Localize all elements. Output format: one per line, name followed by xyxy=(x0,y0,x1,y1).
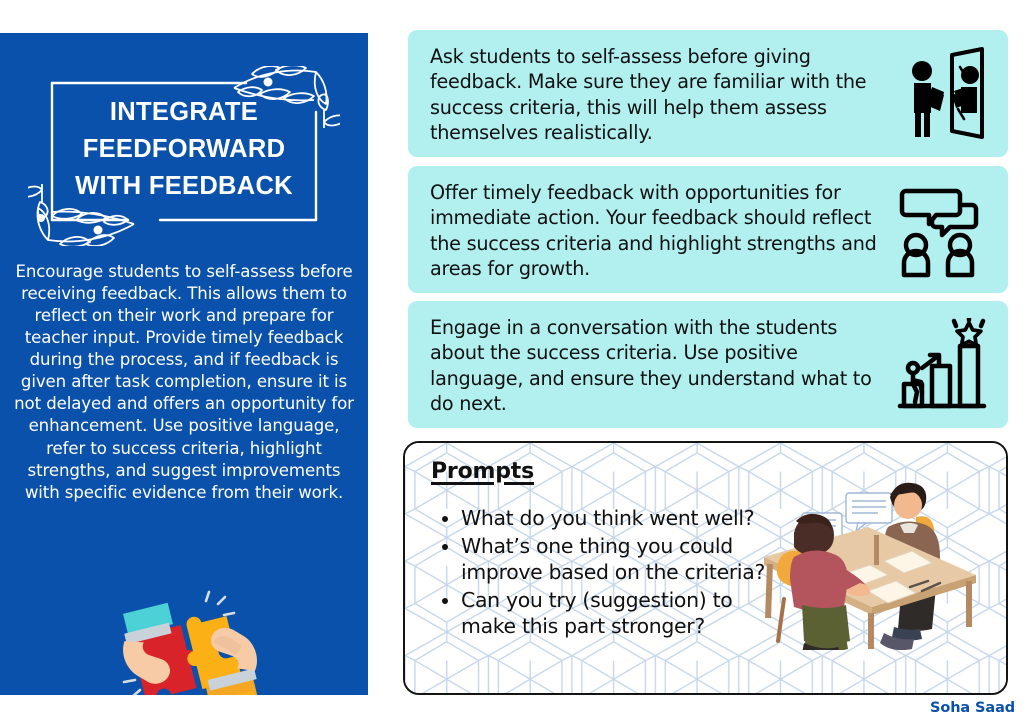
prompts-panel: Prompts What do you think went well? Wha… xyxy=(403,441,1008,695)
two-people-talking-at-table-illustration xyxy=(750,465,995,650)
title-frame: INTEGRATE FEEDFORWARD WITH FEEDBACK xyxy=(28,66,340,246)
page-title: INTEGRATE FEEDFORWARD WITH FEEDBACK xyxy=(46,94,322,206)
list-item: What do you think went well? xyxy=(461,505,791,532)
growth-bar-chart-star-icon xyxy=(894,316,990,416)
prompts-heading: Prompts xyxy=(431,459,534,484)
tip-card-text: Offer timely feedback with opportunities… xyxy=(430,180,886,281)
author-signature: Soha Saad xyxy=(930,700,1015,716)
tip-card-text: Engage in a conversation with the studen… xyxy=(430,315,886,416)
person-at-mirror-icon xyxy=(894,45,990,145)
left-panel-body-text: Encourage students to self-assess before… xyxy=(14,261,354,504)
list-item: Can you try (suggestion) to make this pa… xyxy=(461,587,791,640)
infographic-canvas: INTEGRATE FEEDFORWARD WITH FEEDBACK Enco… xyxy=(0,0,1024,723)
tip-card-timely-feedback: Offer timely feedback with opportunities… xyxy=(408,166,1008,293)
prompts-list: What do you think went well? What’s one … xyxy=(435,505,791,641)
tip-card-text: Ask students to self-assess before givin… xyxy=(430,44,886,145)
tip-card-conversation: Engage in a conversation with the studen… xyxy=(408,301,1008,428)
list-item: What’s one thing you could improve based… xyxy=(461,533,791,586)
two-people-speech-bubbles-icon xyxy=(894,181,990,281)
left-blue-panel: INTEGRATE FEEDFORWARD WITH FEEDBACK Enco… xyxy=(0,33,368,695)
tip-card-self-assess: Ask students to self-assess before givin… xyxy=(408,30,1008,157)
hands-holding-puzzle-pieces-illustration xyxy=(110,586,270,695)
